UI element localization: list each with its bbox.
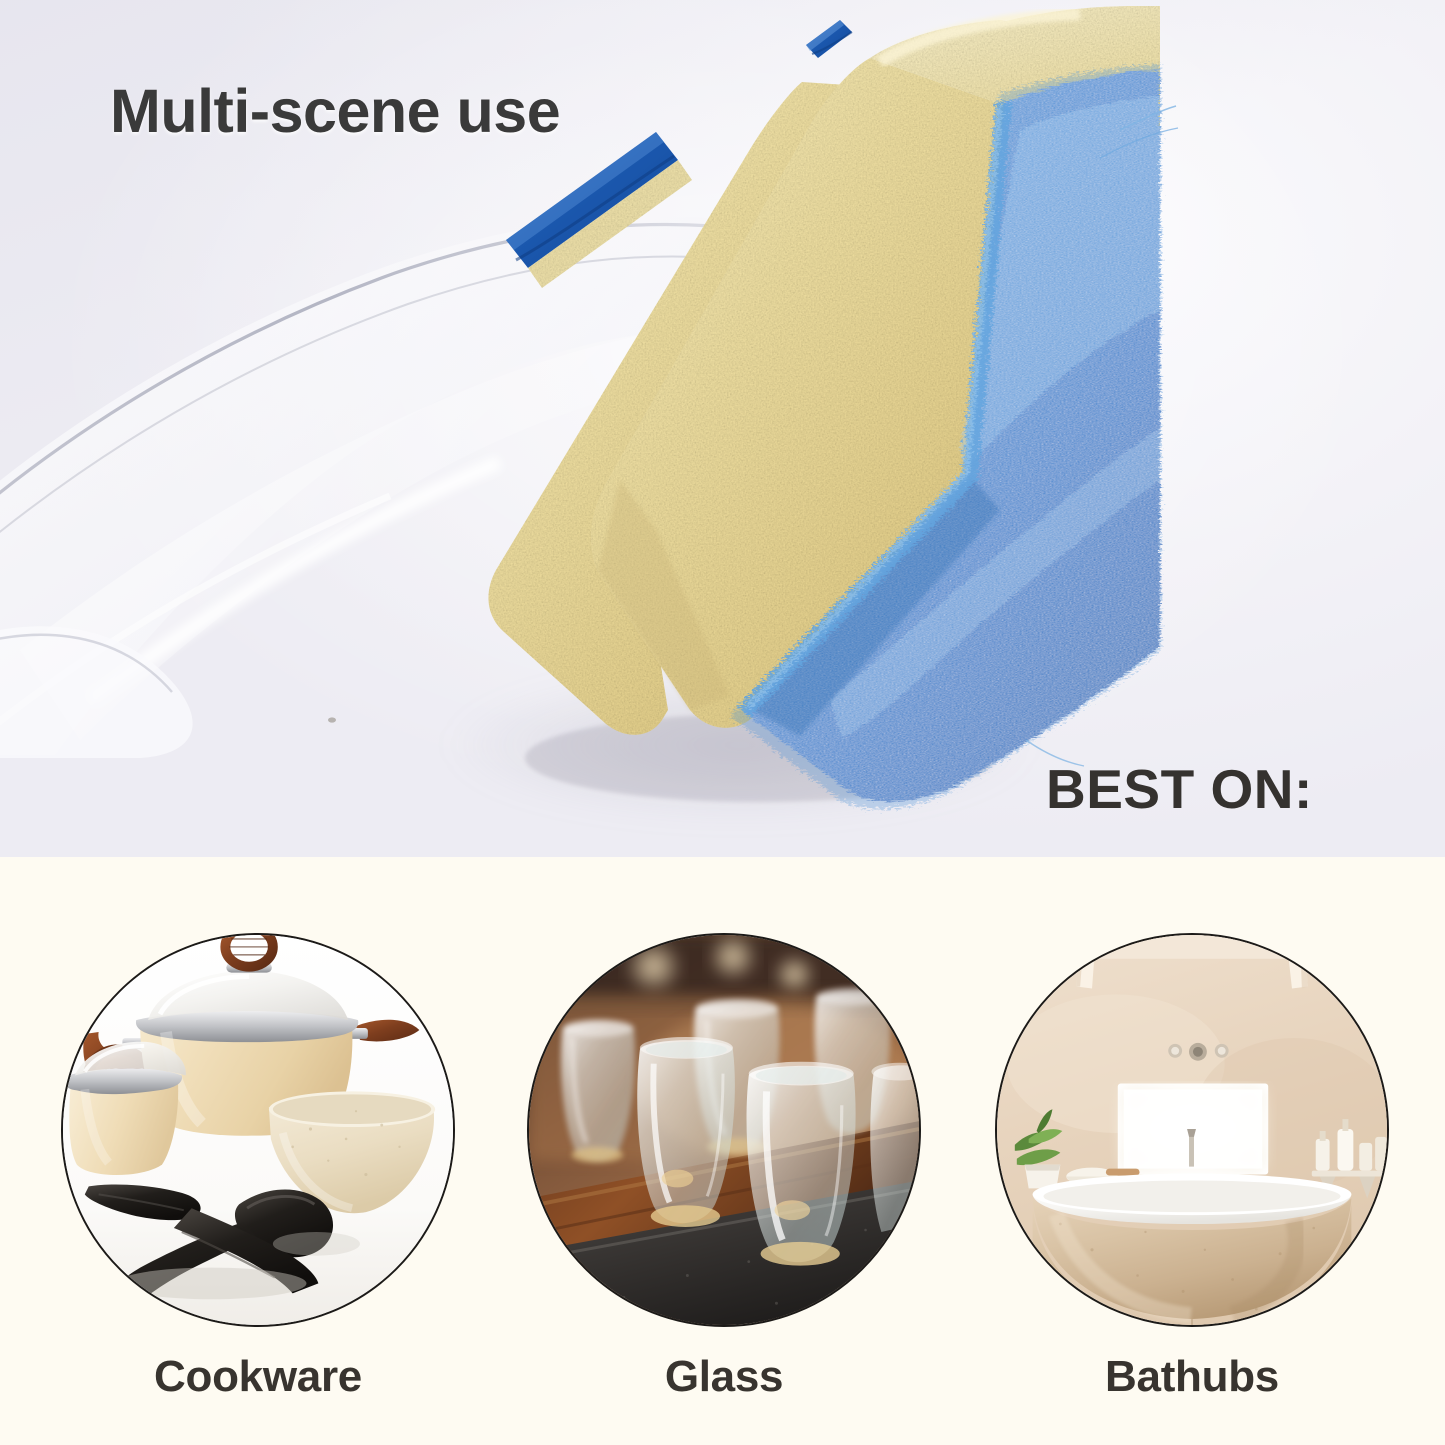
best-on-heading: BEST ON: xyxy=(1046,757,1313,821)
card-label-glass: Glass xyxy=(527,1355,921,1399)
use-case-card-glass[interactable]: Glass xyxy=(527,933,921,1399)
product-floor-shadow xyxy=(330,640,1150,850)
use-cases-panel: Cookware xyxy=(0,857,1445,1445)
card-label-bathubs: Bathubs xyxy=(995,1355,1389,1399)
hero-panel: Multi-scene use BEST ON: xyxy=(0,0,1445,857)
use-case-card-cookware[interactable]: Cookware xyxy=(61,933,455,1399)
bathub-photo-circle xyxy=(995,933,1389,1327)
page-title: Multi-scene use xyxy=(110,76,560,146)
card-label-cookware: Cookware xyxy=(61,1355,455,1399)
use-case-card-list: Cookware xyxy=(0,857,1445,1445)
glass-photo-circle xyxy=(527,933,921,1327)
use-case-card-bathubs[interactable]: Bathubs xyxy=(995,933,1389,1399)
product-infographic: Multi-scene use BEST ON: xyxy=(0,0,1445,1445)
cookware-photo-circle xyxy=(61,933,455,1327)
